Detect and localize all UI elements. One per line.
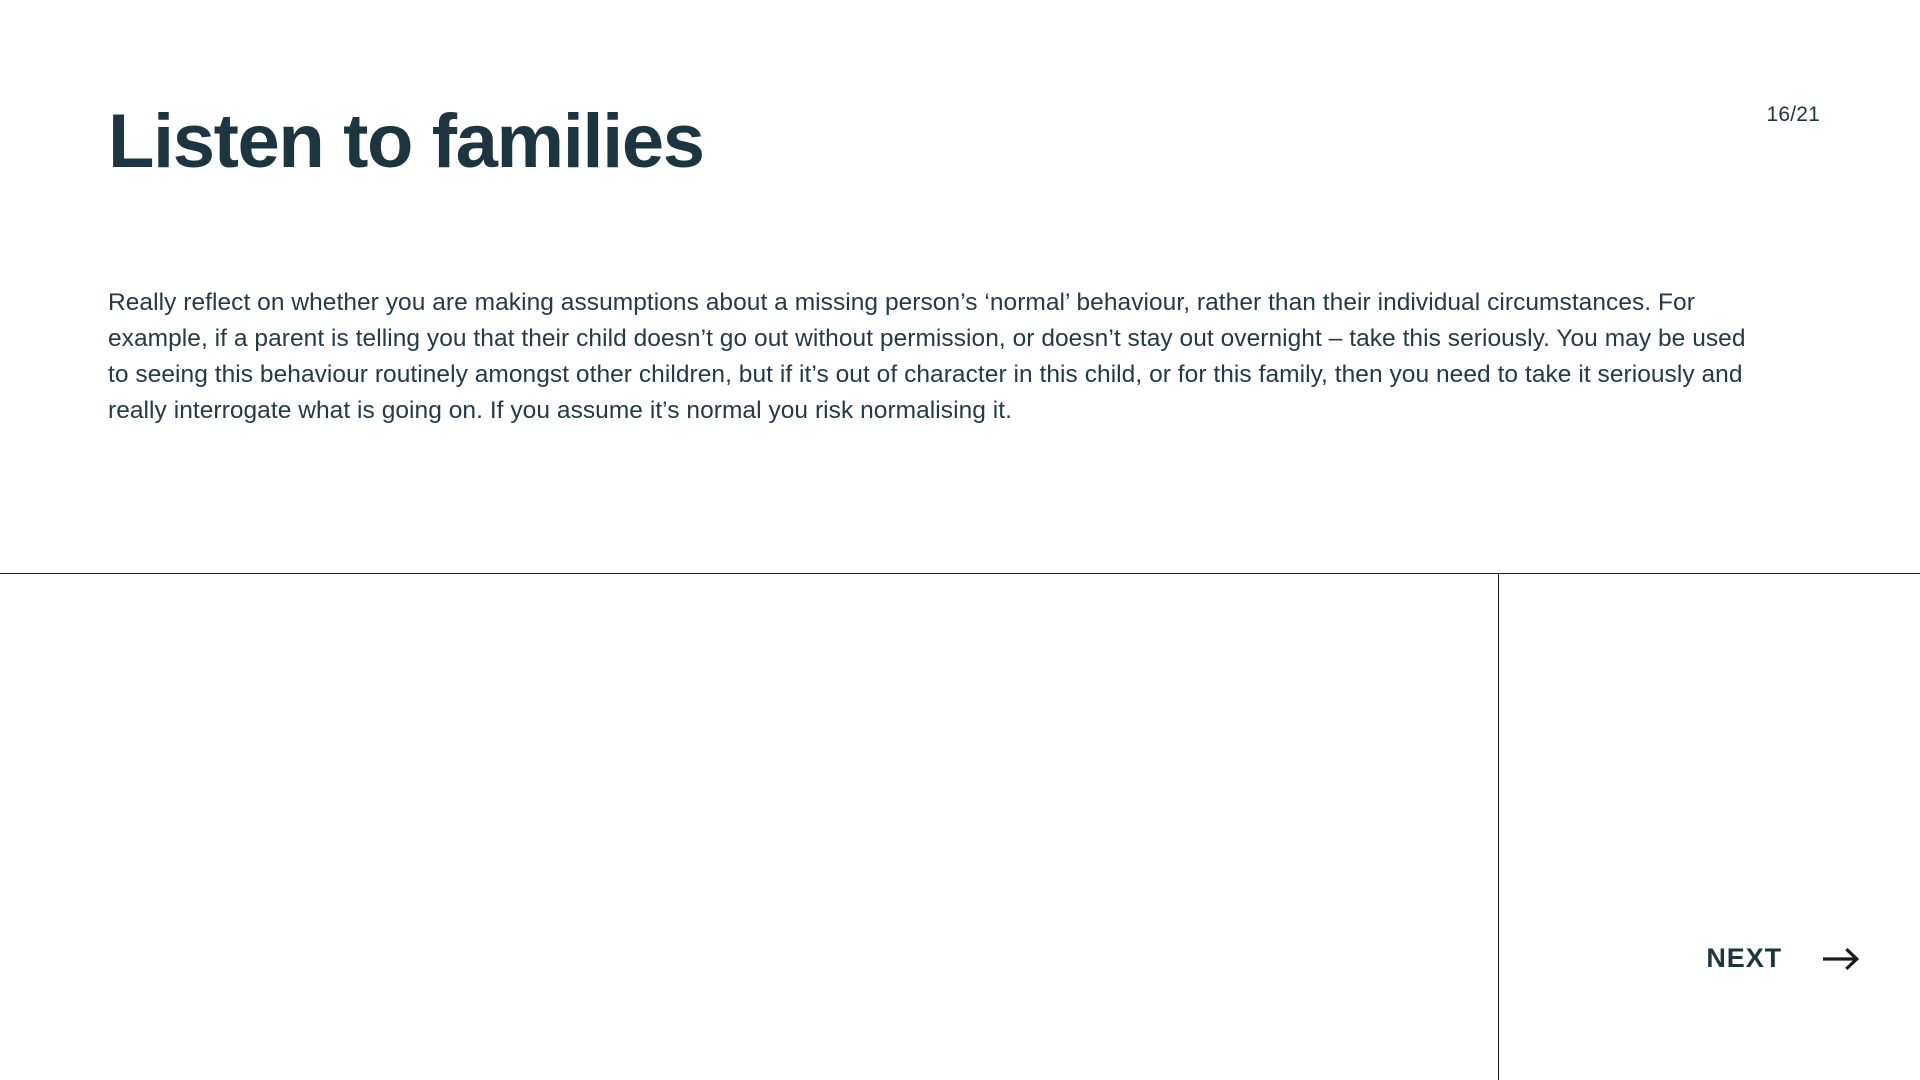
navigation-panel: NEXT [1499,574,1920,1080]
reflective-question-panel: Reflective question Would I feel differe… [0,574,1498,1080]
next-button[interactable]: NEXT [1706,943,1860,974]
upper-section: Listen to families Really reflect on whe… [0,0,1920,573]
arrow-right-icon [1822,947,1860,971]
slide-root: 16/21 Listen to families Really reflect … [0,0,1920,1080]
page-title: Listen to families [108,104,704,180]
body-paragraph: Really reflect on whether you are making… [108,285,1768,429]
next-button-label: NEXT [1706,943,1782,974]
